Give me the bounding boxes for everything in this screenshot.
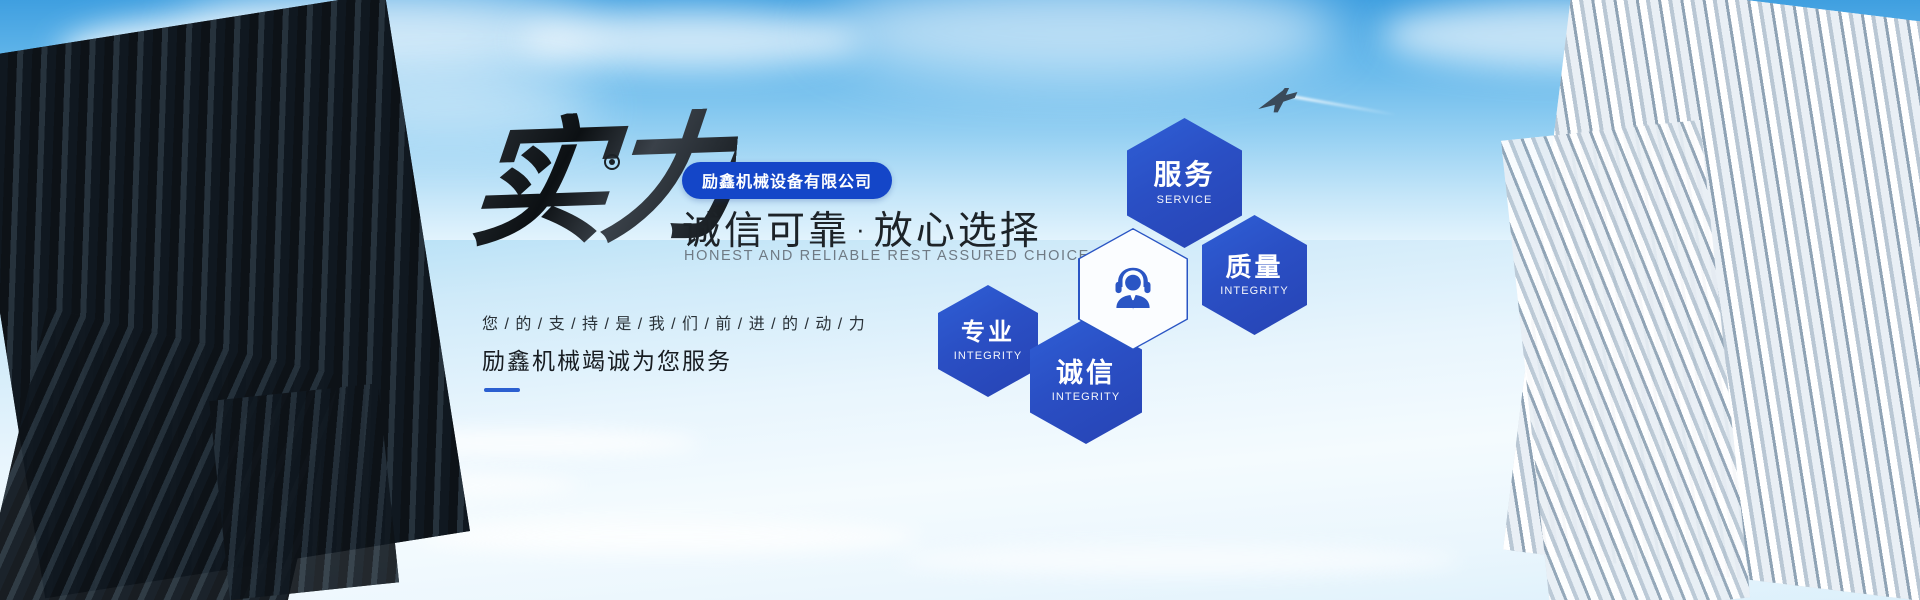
hexagon-label-zh: 诚信 xyxy=(1056,359,1116,389)
cloud-shape xyxy=(520,10,860,70)
cloud-shape xyxy=(420,520,920,554)
hexagon-label-zh: 质量 xyxy=(1225,253,1283,282)
slogan-spaced: 您 / 的 / 支 / 持 / 是 / 我 / 们 / 前 / 进 / 的 / … xyxy=(482,310,866,334)
tagline-part-1: 诚信可靠 xyxy=(682,210,850,253)
decorative-dot-icon xyxy=(604,154,620,170)
slogan-main: 励鑫机械竭诚为您服务 xyxy=(482,342,732,376)
hexagon-cluster: 服务 SERVICE 质量 INTEGRITY 专业 INTEGRITY 诚信 … xyxy=(930,110,1330,410)
hexagon-label-en: SERVICE xyxy=(1157,194,1213,206)
hexagon-label-zh: 服务 xyxy=(1153,160,1215,191)
tagline-separator: · xyxy=(850,214,874,244)
hexagon-service[interactable]: 服务 SERVICE xyxy=(1127,118,1242,248)
promo-banner: 实力 励鑫机械设备有限公司 诚信可靠·放心选择 HONEST AND RELIA… xyxy=(0,0,1920,600)
company-name-badge: 励鑫机械设备有限公司 xyxy=(682,162,892,199)
hexagon-professional[interactable]: 专业 INTEGRITY xyxy=(938,285,1038,397)
hexagon-quality[interactable]: 质量 INTEGRITY xyxy=(1202,215,1307,335)
cloud-shape xyxy=(900,545,1460,575)
building-left-tertiary xyxy=(209,383,399,600)
hexagon-label-zh: 专业 xyxy=(961,320,1015,346)
hexagon-label-en: INTEGRITY xyxy=(1052,391,1121,403)
hexagon-label-en: INTEGRITY xyxy=(1220,285,1289,297)
hexagon-label-en: INTEGRITY xyxy=(954,350,1023,362)
headset-support-icon xyxy=(1105,259,1161,320)
accent-rule xyxy=(484,388,520,392)
